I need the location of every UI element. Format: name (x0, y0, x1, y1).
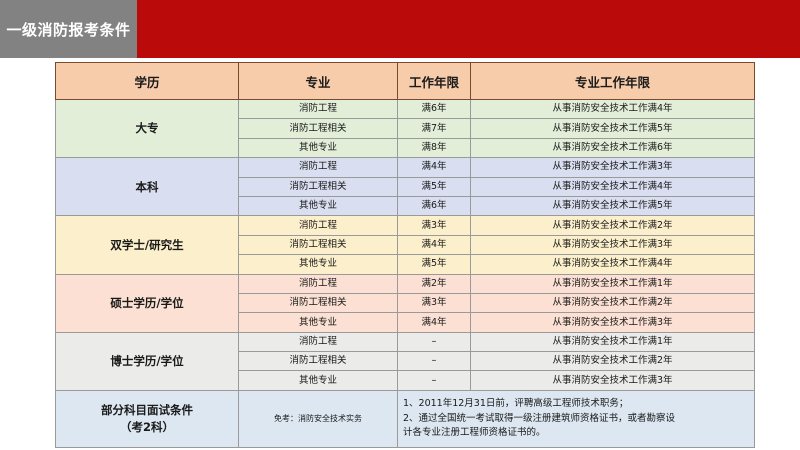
major-cell: 其他专业 (239, 313, 398, 332)
column-header-pro-years: 专业工作年限 (471, 63, 755, 100)
footer-note-line1: 1、2011年12月31日前，评聘高级工程师技术职务； (403, 397, 749, 411)
work-years-cell: – (398, 352, 471, 371)
pro-years-cell: 从事消防安全技术工作满3年 (471, 371, 755, 390)
degree-cell-shuoshi: 硕士学历/学位 (56, 274, 239, 332)
pro-years-cell: 从事消防安全技术工作满3年 (471, 158, 755, 177)
requirements-table-wrapper: 学历 专业 工作年限 专业工作年限 大专 消防工程 满6年 从事消防安全技术工作… (55, 62, 754, 448)
column-header-work-years: 工作年限 (398, 63, 471, 100)
pro-years-cell: 从事消防安全技术工作满5年 (471, 119, 755, 138)
major-cell: 消防工程相关 (239, 293, 398, 312)
degree-cell-benke: 本科 (56, 158, 239, 216)
major-cell: 消防工程 (239, 158, 398, 177)
major-cell: 消防工程 (239, 216, 398, 235)
work-years-cell: 满4年 (398, 158, 471, 177)
page-title: 一级消防报考条件 (6, 19, 130, 40)
work-years-cell: 满6年 (398, 196, 471, 215)
work-years-cell: 满5年 (398, 255, 471, 274)
table-header-row: 学历 专业 工作年限 专业工作年限 (56, 63, 755, 100)
major-cell: 消防工程相关 (239, 352, 398, 371)
table-header: 学历 专业 工作年限 专业工作年限 (56, 63, 755, 100)
major-cell: 其他专业 (239, 138, 398, 157)
slide-canvas: 一级消防报考条件 学历 专业 工作年限 专业工作年限 大专 消防工程 满6年 (0, 0, 800, 450)
work-years-cell: 满4年 (398, 313, 471, 332)
work-years-cell: – (398, 371, 471, 390)
pro-years-cell: 从事消防安全技术工作满4年 (471, 177, 755, 196)
footer-note-cell: 1、2011年12月31日前，评聘高级工程师技术职务； 2、通过全国统一考试取得… (398, 390, 755, 447)
pro-years-cell: 从事消防安全技术工作满3年 (471, 313, 755, 332)
work-years-cell: 满7年 (398, 119, 471, 138)
title-banner: 一级消防报考条件 (0, 0, 800, 58)
table-body: 大专 消防工程 满6年 从事消防安全技术工作满4年 消防工程相关 满7年 从事消… (56, 100, 755, 448)
major-cell: 消防工程 (239, 100, 398, 119)
footer-note-line3: 计各专业注册工程师资格证书的。 (403, 426, 749, 440)
major-cell: 其他专业 (239, 371, 398, 390)
work-years-cell: 满3年 (398, 293, 471, 312)
pro-years-cell: 从事消防安全技术工作满2年 (471, 293, 755, 312)
major-cell: 其他专业 (239, 255, 398, 274)
title-box: 一级消防报考条件 (0, 0, 137, 58)
footer-exempt-cell: 免考：消防安全技术实务 (239, 390, 398, 447)
pro-years-cell: 从事消防安全技术工作满3年 (471, 235, 755, 254)
table-row-footer: 部分科目面试条件 （考2科） 免考：消防安全技术实务 1、2011年12月31日… (56, 390, 755, 447)
footer-label-line2: （考2科） (56, 419, 238, 436)
footer-label-cell: 部分科目面试条件 （考2科） (56, 390, 239, 447)
pro-years-cell: 从事消防安全技术工作满2年 (471, 216, 755, 235)
work-years-cell: 满8年 (398, 138, 471, 157)
pro-years-cell: 从事消防安全技术工作满1年 (471, 332, 755, 351)
pro-years-cell: 从事消防安全技术工作满4年 (471, 100, 755, 119)
table-row: 博士学历/学位 消防工程 – 从事消防安全技术工作满1年 (56, 332, 755, 351)
table-row: 硕士学历/学位 消防工程 满2年 从事消防安全技术工作满1年 (56, 274, 755, 293)
table-row: 大专 消防工程 满6年 从事消防安全技术工作满4年 (56, 100, 755, 119)
degree-cell-dazhuan: 大专 (56, 100, 239, 158)
requirements-table: 学历 专业 工作年限 专业工作年限 大专 消防工程 满6年 从事消防安全技术工作… (55, 62, 755, 448)
footer-note-line2: 2、通过全国统一考试取得一级注册建筑师资格证书，或者勘察设 (403, 412, 749, 426)
work-years-cell: 满3年 (398, 216, 471, 235)
work-years-cell: 满4年 (398, 235, 471, 254)
pro-years-cell: 从事消防安全技术工作满6年 (471, 138, 755, 157)
table-row: 本科 消防工程 满4年 从事消防安全技术工作满3年 (56, 158, 755, 177)
pro-years-cell: 从事消防安全技术工作满5年 (471, 196, 755, 215)
major-cell: 消防工程 (239, 332, 398, 351)
major-cell: 其他专业 (239, 196, 398, 215)
work-years-cell: – (398, 332, 471, 351)
pro-years-cell: 从事消防安全技术工作满1年 (471, 274, 755, 293)
column-header-major: 专业 (239, 63, 398, 100)
major-cell: 消防工程相关 (239, 235, 398, 254)
major-cell: 消防工程相关 (239, 119, 398, 138)
degree-cell-shuangxueshi: 双学士/研究生 (56, 216, 239, 274)
work-years-cell: 满6年 (398, 100, 471, 119)
work-years-cell: 满5年 (398, 177, 471, 196)
pro-years-cell: 从事消防安全技术工作满2年 (471, 352, 755, 371)
table-row: 双学士/研究生 消防工程 满3年 从事消防安全技术工作满2年 (56, 216, 755, 235)
column-header-education: 学历 (56, 63, 239, 100)
major-cell: 消防工程相关 (239, 177, 398, 196)
work-years-cell: 满2年 (398, 274, 471, 293)
footer-label-line1: 部分科目面试条件 (56, 402, 238, 419)
pro-years-cell: 从事消防安全技术工作满4年 (471, 255, 755, 274)
major-cell: 消防工程 (239, 274, 398, 293)
degree-cell-boshi: 博士学历/学位 (56, 332, 239, 390)
